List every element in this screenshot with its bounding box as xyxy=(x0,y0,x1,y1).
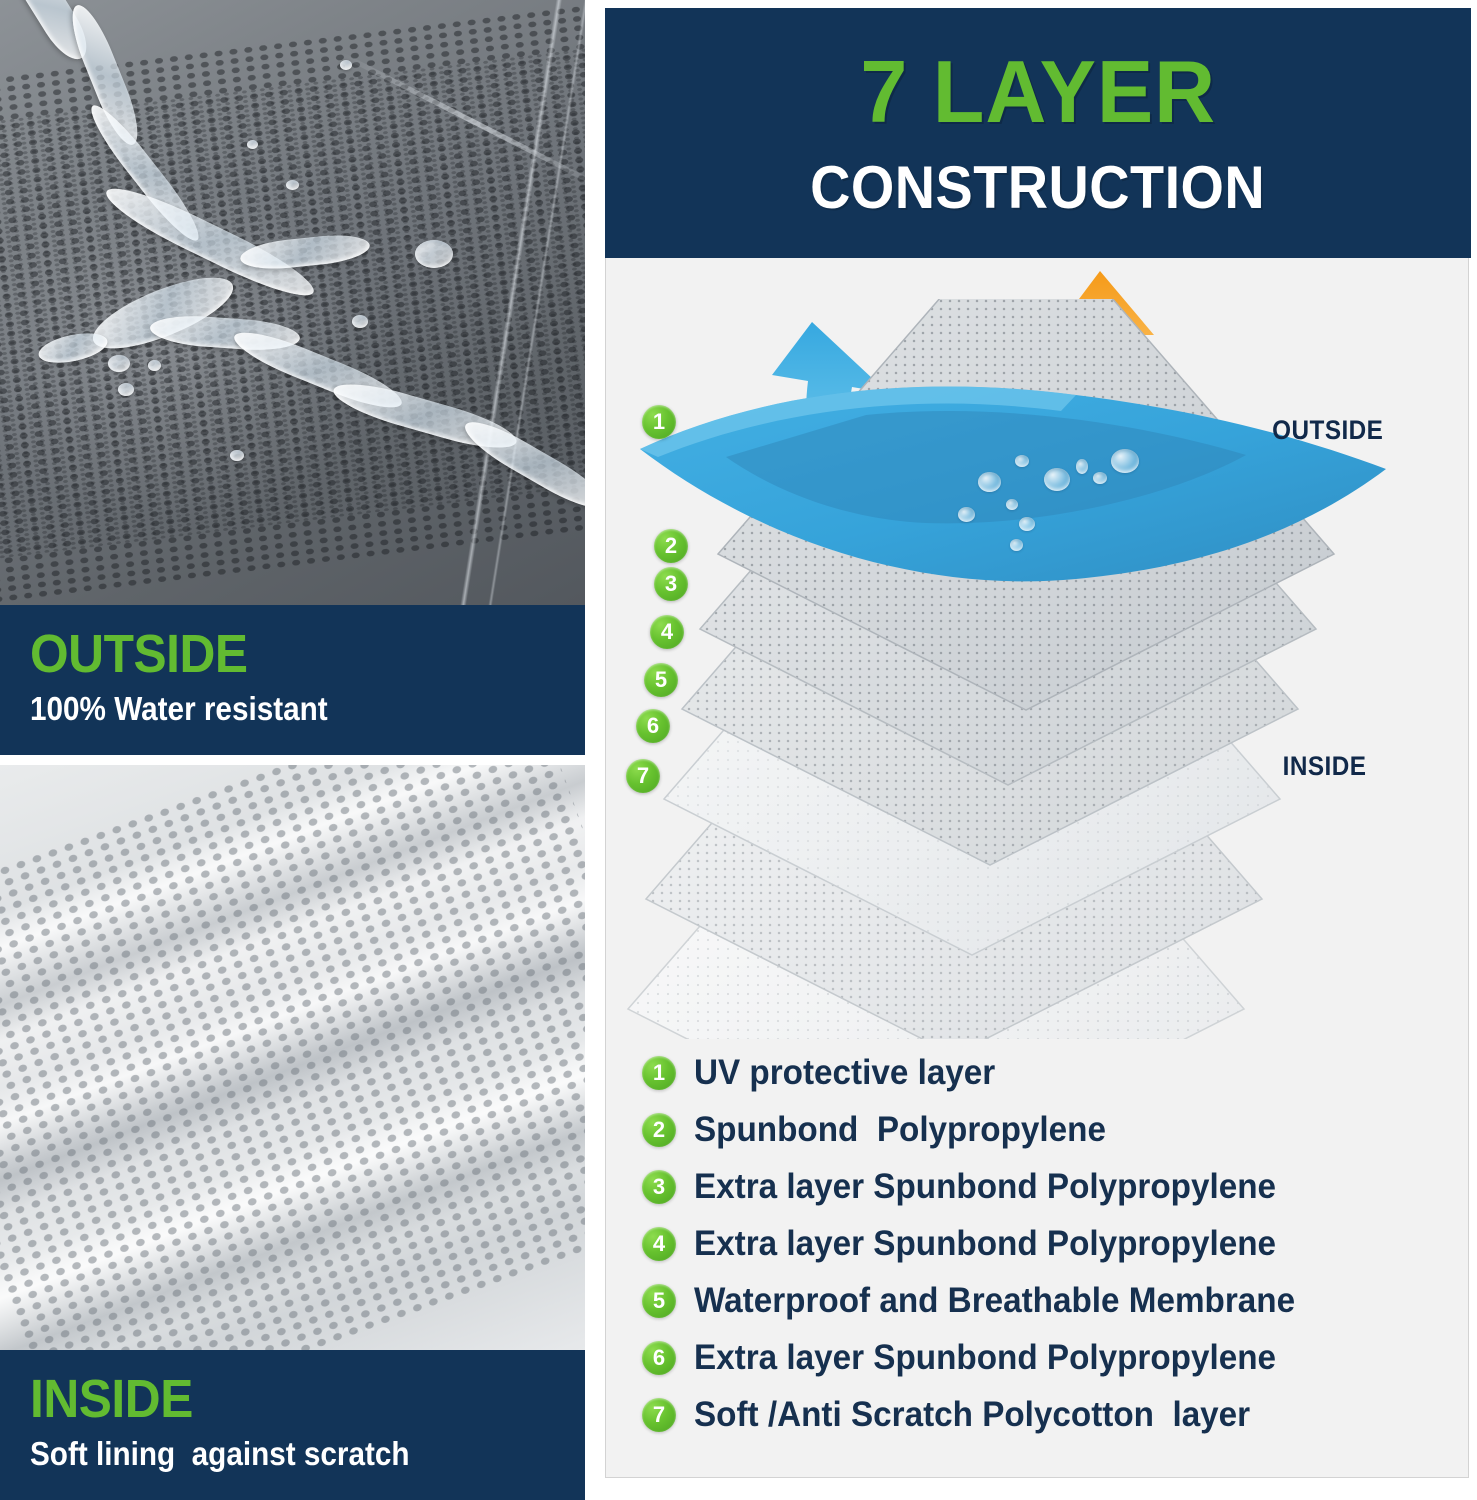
inside-photo-card: INSIDE Soft lining against scratch xyxy=(0,765,585,1500)
layer-badge-5: 5 xyxy=(644,663,678,697)
outside-photo-card: OUTSIDE 100% Water resistant xyxy=(0,0,585,755)
list-text-6: Extra layer Spunbond Polypropylene xyxy=(694,1340,1276,1375)
infographic-root: OUTSIDE 100% Water resistant INSIDE Soft… xyxy=(0,0,1477,1500)
inside-subtitle: Soft lining against scratch xyxy=(30,1436,503,1472)
list-number-6: 6 xyxy=(642,1341,676,1375)
list-item: 7 Soft /Anti Scratch Polycotton layer xyxy=(642,1386,1468,1443)
list-text-3: Extra layer Spunbond Polypropylene xyxy=(694,1169,1276,1204)
list-text-2: Spunbond Polypropylene xyxy=(694,1112,1106,1147)
list-text-4: Extra layer Spunbond Polypropylene xyxy=(694,1226,1276,1261)
header-subtitle: CONSTRUCTION xyxy=(810,158,1265,218)
panel-header: 7 LAYER CONSTRUCTION xyxy=(605,8,1471,258)
list-number-5: 5 xyxy=(642,1284,676,1318)
list-number-1: 1 xyxy=(642,1056,676,1090)
list-item: 5 Waterproof and Breathable Membrane xyxy=(642,1272,1468,1329)
list-number-3: 3 xyxy=(642,1170,676,1204)
list-item: 2 Spunbond Polypropylene xyxy=(642,1101,1468,1158)
diagram-inside-label: INSIDE xyxy=(1283,751,1367,782)
layer-stack-diagram: 1 2 3 4 5 6 7 OUTSIDE INSIDE xyxy=(606,259,1468,1039)
list-text-5: Waterproof and Breathable Membrane xyxy=(694,1283,1295,1318)
outside-caption: OUTSIDE 100% Water resistant xyxy=(0,605,585,755)
list-item: 1 UV protective layer xyxy=(642,1044,1468,1101)
list-item: 3 Extra layer Spunbond Polypropylene xyxy=(642,1158,1468,1215)
outside-title: OUTSIDE xyxy=(30,627,513,681)
outside-fabric-photo xyxy=(0,0,585,605)
header-title: 7 LAYER xyxy=(860,48,1216,136)
layer-badge-3: 3 xyxy=(654,567,688,601)
layer-badge-7: 7 xyxy=(626,759,660,793)
inside-title: INSIDE xyxy=(30,1372,513,1426)
list-number-4: 4 xyxy=(642,1227,676,1261)
layer-list: 1 UV protective layer 2 Spunbond Polypro… xyxy=(606,1044,1468,1443)
list-number-7: 7 xyxy=(642,1398,676,1432)
layer-sheets xyxy=(606,299,1468,1039)
list-number-2: 2 xyxy=(642,1113,676,1147)
inside-fabric-photo xyxy=(0,765,585,1350)
layer-badge-6: 6 xyxy=(636,709,670,743)
list-item: 6 Extra layer Spunbond Polypropylene xyxy=(642,1329,1468,1386)
layer-badge-1: 1 xyxy=(642,405,676,439)
left-photo-column: OUTSIDE 100% Water resistant INSIDE Soft… xyxy=(0,0,585,1500)
diagram-outside-label: OUTSIDE xyxy=(1272,415,1383,446)
list-text-7: Soft /Anti Scratch Polycotton layer xyxy=(694,1397,1250,1432)
layer-badge-2: 2 xyxy=(654,529,688,563)
layer-badge-4: 4 xyxy=(650,615,684,649)
inside-caption: INSIDE Soft lining against scratch xyxy=(0,1350,585,1500)
construction-panel: 7 LAYER CONSTRUCTION xyxy=(605,8,1469,1478)
outside-subtitle: 100% Water resistant xyxy=(30,691,503,727)
list-text-1: UV protective layer xyxy=(694,1055,995,1090)
list-item: 4 Extra layer Spunbond Polypropylene xyxy=(642,1215,1468,1272)
